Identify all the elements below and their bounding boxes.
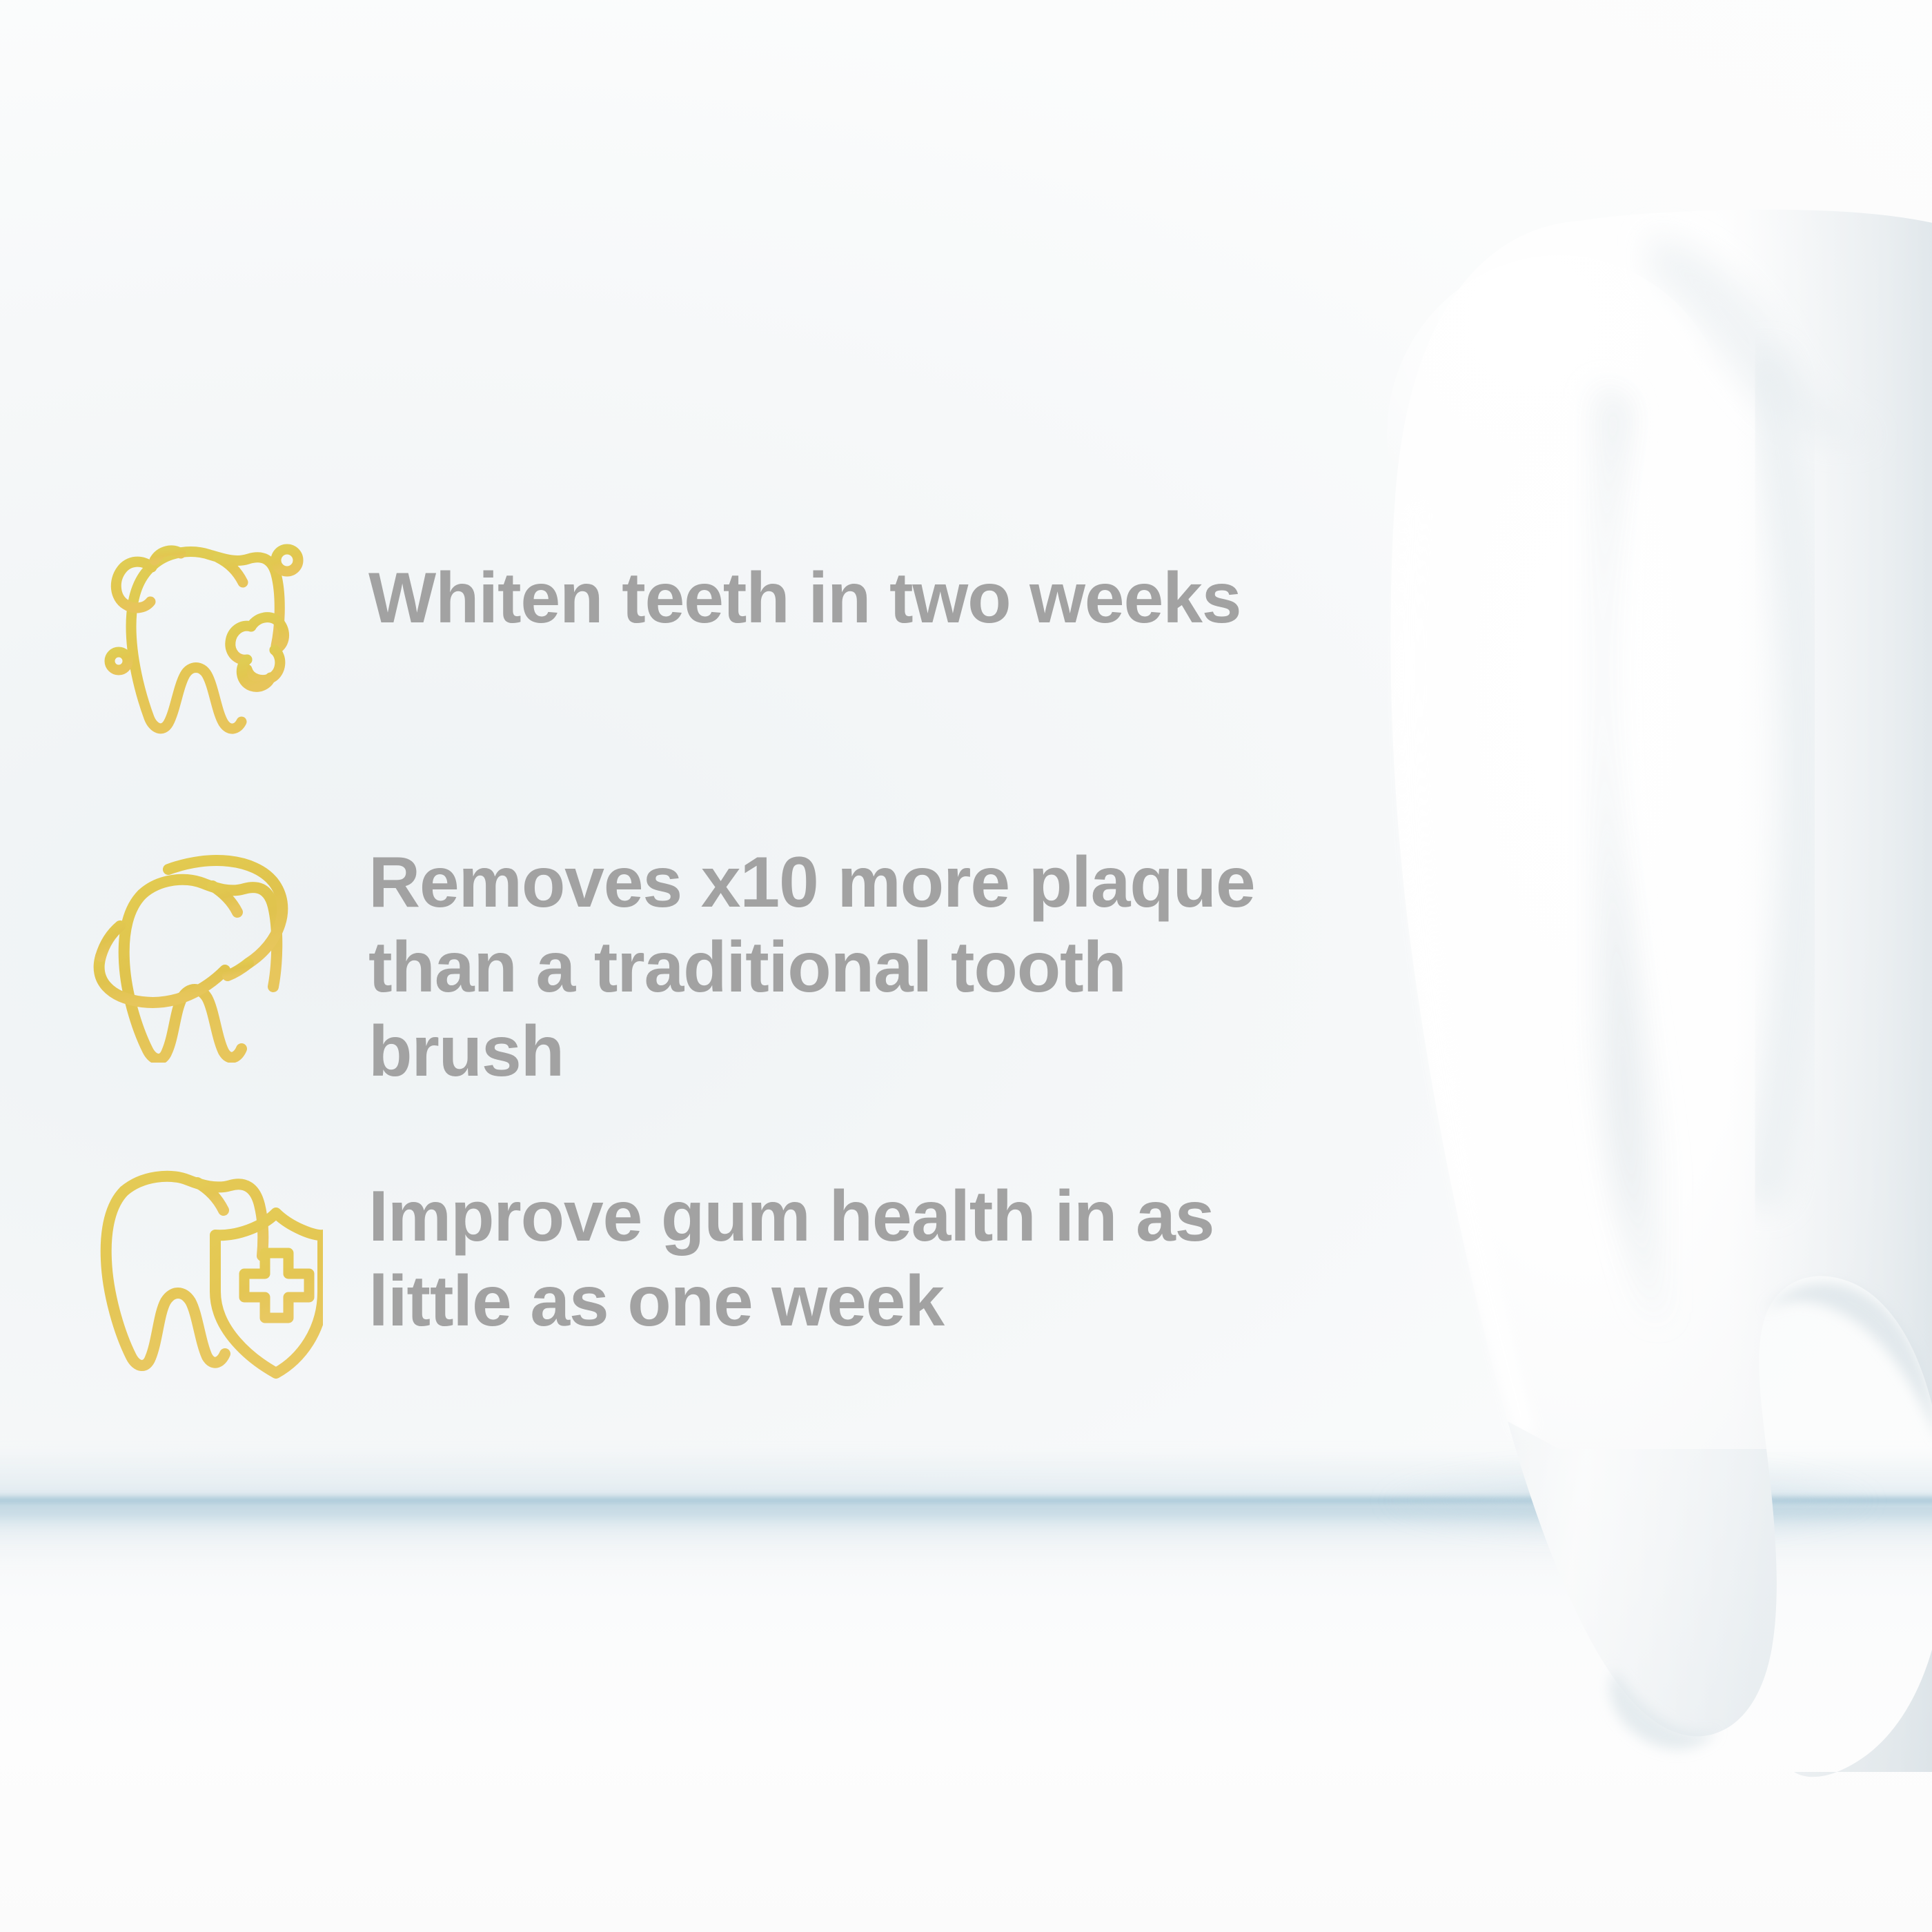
feature-list: Whiten teeth in two weeks xyxy=(88,511,1330,1387)
feature-label: Removes x10 more plaque than a tradition… xyxy=(323,835,1330,1094)
tooth-with-shield-cross-icon xyxy=(88,1159,323,1387)
medical-cross-icon xyxy=(244,1253,309,1318)
infographic-canvas: Whiten teeth in two weeks xyxy=(0,0,1932,1932)
feature-item-whiten: Whiten teeth in two weeks xyxy=(88,511,1330,738)
feature-item-gum-health: Improve gum health in as little as one w… xyxy=(88,1159,1330,1387)
tooth-with-bubbles-icon xyxy=(88,511,323,738)
tooth-with-orbit-icon xyxy=(88,835,323,1063)
feature-label: Improve gum health in as little as one w… xyxy=(323,1159,1330,1343)
feature-item-plaque: Removes x10 more plaque than a tradition… xyxy=(88,835,1330,1063)
feature-label: Whiten teeth in two weeks xyxy=(323,511,1330,641)
hero-tooth-image xyxy=(1352,207,1932,1815)
